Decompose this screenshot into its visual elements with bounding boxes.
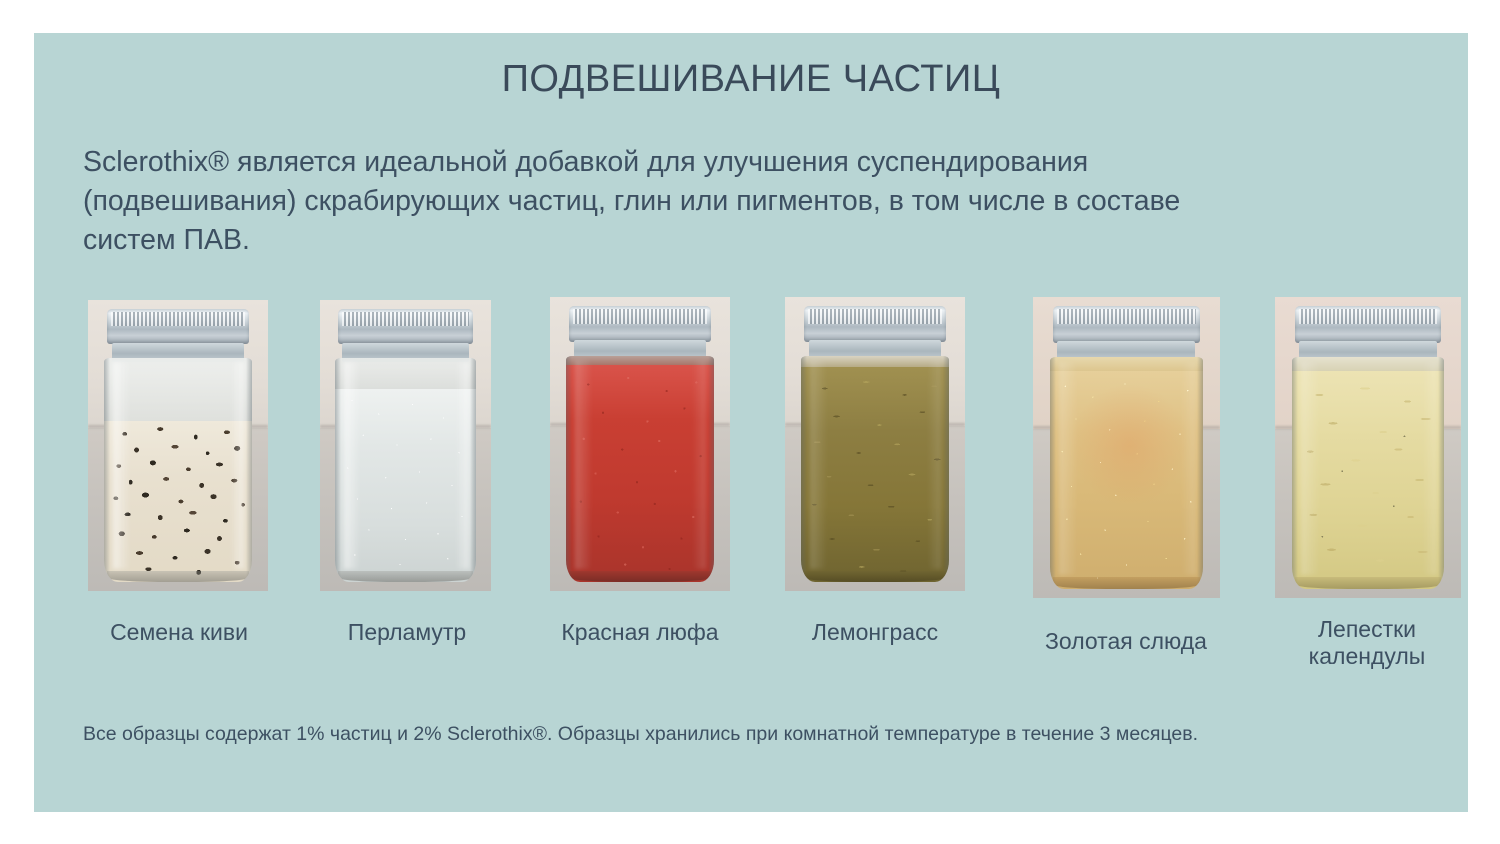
sample-caption-gold-mica: Золотая слюда [1002, 628, 1250, 655]
jar-body [566, 356, 714, 583]
sample-jar-gallery: Семена киви [34, 33, 1468, 812]
jar-photo-gold-mica [1033, 297, 1220, 598]
jar-lid-icon [569, 306, 711, 342]
sample-caption-calendula-petals: Лепестки календулы [1249, 616, 1485, 670]
jar-photo-red-luffa [550, 297, 730, 591]
footnote-text: Все образцы содержат 1% частиц и 2% Scle… [83, 721, 1428, 749]
sample-cell-gold-mica [1033, 297, 1220, 598]
jar-body [1292, 357, 1445, 589]
glass-jar [801, 306, 949, 582]
jar-lid-icon [107, 309, 249, 345]
caption-text: Семена киви [110, 619, 248, 645]
sample-cell-calendula-petals [1275, 297, 1461, 598]
jar-photo-calendula-petals [1275, 297, 1461, 598]
jar-body [801, 356, 949, 583]
jar-lid-icon [1053, 306, 1200, 343]
sample-caption-red-luffa: Красная люфа [520, 619, 760, 646]
glass-jar [1292, 306, 1445, 589]
sample-caption-kiwi-seeds: Семена киви [64, 619, 294, 646]
caption-text: Красная люфа [561, 619, 718, 645]
jar-photo-lemongrass [785, 297, 965, 591]
sample-cell-kiwi-seeds [88, 300, 268, 591]
jar-lid-icon [804, 306, 946, 342]
glass-jar [104, 309, 252, 583]
jar-body [335, 358, 475, 582]
sample-cell-pearl [320, 300, 491, 591]
caption-text-line-2: календулы [1309, 643, 1426, 669]
caption-text-line-1: Лепестки [1318, 616, 1416, 642]
caption-text: Перламутр [348, 619, 466, 645]
glass-jar [1050, 306, 1203, 589]
sample-caption-pearl: Перламутр [292, 619, 522, 646]
caption-text: Лемонграсс [812, 619, 938, 645]
slide-canvas: ПОДВЕШИВАНИЕ ЧАСТИЦ Sclerothix® является… [34, 33, 1468, 812]
jar-photo-kiwi-seeds [88, 300, 268, 591]
jar-body [1050, 357, 1203, 589]
jar-lid-icon [338, 309, 473, 345]
jar-photo-pearl [320, 300, 491, 591]
sample-caption-lemongrass: Лемонграсс [754, 619, 996, 646]
caption-text: Золотая слюда [1045, 628, 1207, 654]
glass-jar [335, 309, 475, 583]
sample-cell-lemongrass [785, 297, 965, 591]
jar-lid-icon [1295, 306, 1441, 343]
jar-body [104, 358, 252, 582]
sample-cell-red-luffa [550, 297, 730, 591]
glass-jar [566, 306, 714, 582]
